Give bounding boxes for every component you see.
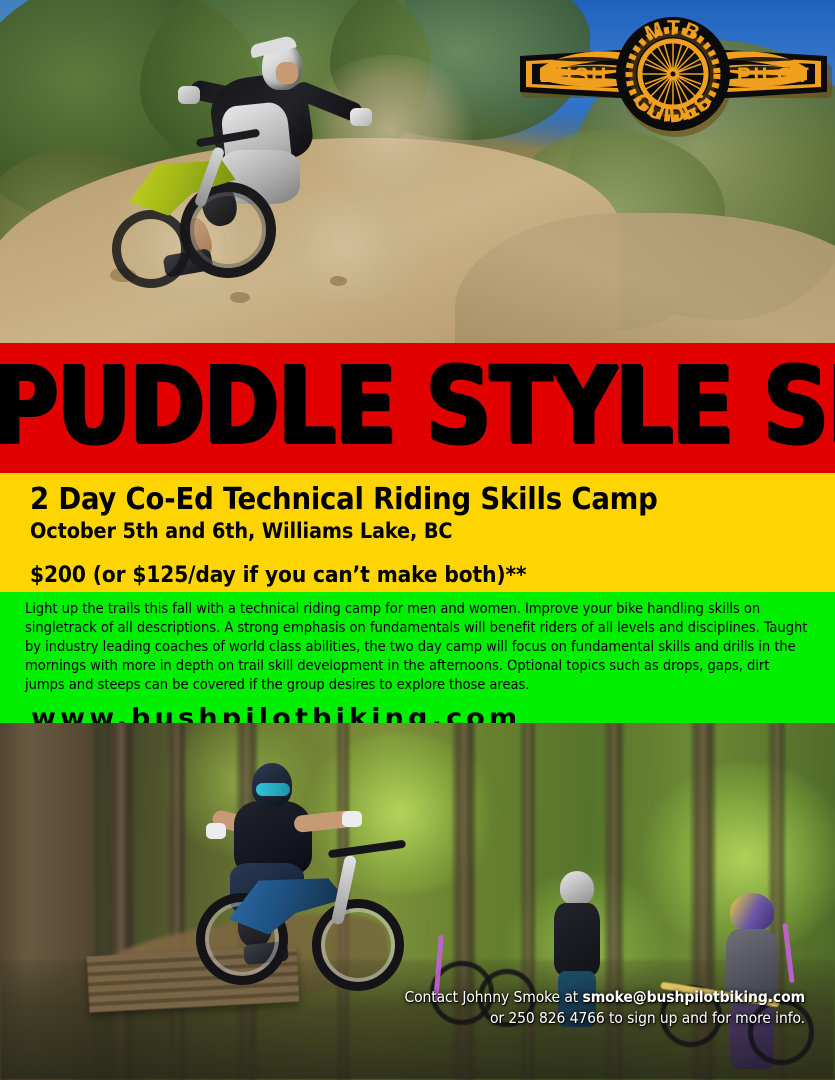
- event-headline: 2 Day Co-Ed Technical Riding Skills Camp: [30, 483, 835, 517]
- event-price: $200 (or $125/day if you can’t make both…: [30, 563, 835, 588]
- bike-front-wheel: [112, 210, 190, 288]
- rider-glove: [178, 86, 200, 104]
- rider-glove: [350, 108, 372, 126]
- contact-info: Contact Johnny Smoke at smoke@bushpilotb…: [404, 987, 805, 1028]
- rider-helmet: [560, 871, 594, 905]
- bike-rear-wheel: [180, 182, 276, 278]
- poster-title: PUDDLE STYLE SKILLS CAMP: [0, 359, 835, 457]
- description-banner: Light up the trails this fall with a tec…: [0, 592, 835, 723]
- title-banner: PUDDLE STYLE SKILLS CAMP: [0, 343, 835, 473]
- bush-pilot-mtb-guides-logo: MTB GUIDES BUSH PILOT: [512, 16, 835, 138]
- details-banner: 2 Day Co-Ed Technical Riding Skills Camp…: [0, 473, 835, 592]
- mountain-bike: [192, 853, 422, 1023]
- rider-glove: [206, 823, 226, 839]
- bike-front-wheel: [312, 899, 404, 991]
- contact-email[interactable]: smoke@bushpilotbiking.com: [583, 988, 806, 1006]
- rider-goggles: [256, 783, 290, 796]
- rider-helmet: [730, 893, 774, 931]
- event-date-location: October 5th and 6th, Williams Lake, BC: [30, 518, 835, 544]
- mountain-bike: [84, 142, 274, 292]
- logo-right-word: PILOT: [737, 64, 811, 87]
- logo-left-word: BUSH: [539, 64, 609, 87]
- poster-root: MTB GUIDES BUSH PILOT PUDDLE STYLE SKILL…: [0, 0, 835, 1080]
- rider-glove: [342, 811, 362, 827]
- rider-face: [276, 62, 298, 84]
- bottom-action-photo: Contact Johnny Smoke at smoke@bushpilotb…: [0, 723, 835, 1080]
- contact-line-1: Contact Johnny Smoke at smoke@bushpilotb…: [404, 987, 805, 1007]
- contact-prefix: Contact Johnny Smoke at: [404, 988, 582, 1006]
- rider-torso: [554, 903, 600, 975]
- event-description: Light up the trails this fall with a tec…: [25, 600, 811, 695]
- contact-line-2: or 250 826 4766 to sign up and for more …: [404, 1008, 805, 1028]
